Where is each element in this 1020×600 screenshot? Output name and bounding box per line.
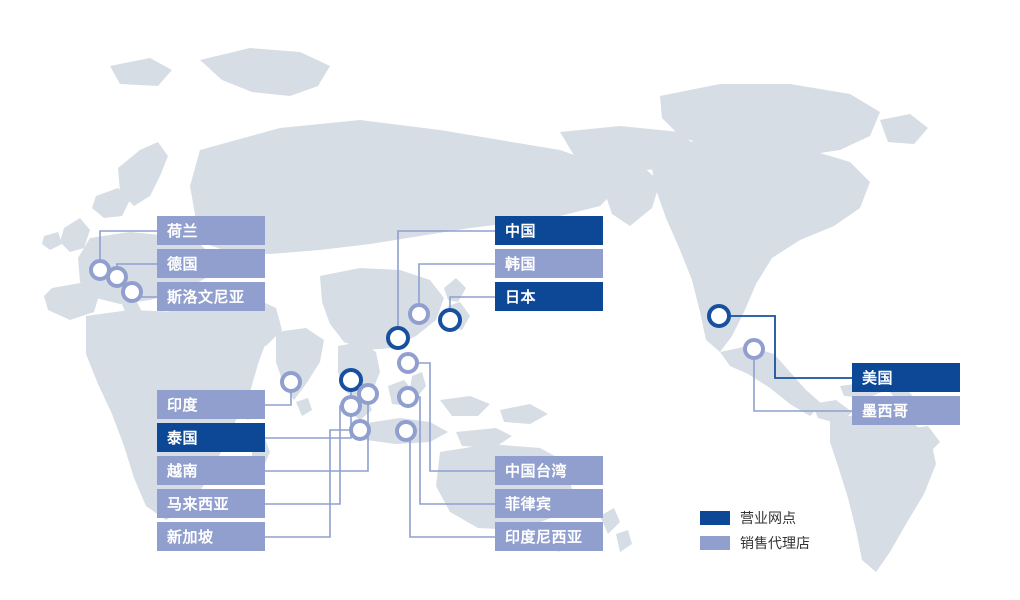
marker-hole [361,387,375,401]
marker-hole [399,424,413,438]
marker-philippines[interactable] [397,386,419,408]
marker-hole [401,390,415,404]
marker-slovenia[interactable] [121,281,143,303]
label-vietnam[interactable]: 越南 [157,456,265,485]
marker-hole [390,330,406,346]
legend-row-office: 营业网点 [700,508,810,528]
marker-singapore[interactable] [349,419,371,441]
legend: 营业网点 销售代理店 [700,508,810,558]
marker-hole [343,372,359,388]
label-taiwan[interactable]: 中国台湾 [495,456,603,485]
marker-mexico[interactable] [743,338,765,360]
label-philippines[interactable]: 菲律宾 [495,489,603,518]
marker-hole [353,423,367,437]
label-thailand[interactable]: 泰国 [157,423,265,452]
legend-swatch-agent-icon [700,536,730,550]
marker-malaysia[interactable] [340,395,362,417]
marker-hole [284,375,298,389]
label-china[interactable]: 中国 [495,216,603,245]
label-india[interactable]: 印度 [157,390,265,419]
marker-taiwan[interactable] [397,352,419,374]
marker-indonesia[interactable] [395,420,417,442]
legend-swatch-office-icon [700,511,730,525]
label-indonesia[interactable]: 印度尼西亚 [495,522,603,551]
legend-row-agent: 销售代理店 [700,533,810,553]
label-japan[interactable]: 日本 [495,282,603,311]
marker-hole [110,270,124,284]
marker-hole [412,307,426,321]
marker-hole [747,342,761,356]
label-singapore[interactable]: 新加坡 [157,522,265,551]
label-usa[interactable]: 美国 [852,363,960,392]
marker-usa[interactable] [707,304,731,328]
legend-label-office: 营业网点 [740,508,796,528]
marker-hole [125,285,139,299]
label-slovenia[interactable]: 斯洛文尼亚 [157,282,265,311]
label-korea[interactable]: 韩国 [495,249,603,278]
marker-hole [344,399,358,413]
label-germany[interactable]: 德国 [157,249,265,278]
marker-hole [401,356,415,370]
marker-india[interactable] [280,371,302,393]
legend-label-agent: 销售代理店 [740,533,810,553]
label-netherlands[interactable]: 荷兰 [157,216,265,245]
marker-japan[interactable] [438,308,462,332]
marker-hole [442,312,458,328]
marker-hole [93,263,107,277]
label-mexico[interactable]: 墨西哥 [852,396,960,425]
marker-korea[interactable] [408,303,430,325]
marker-hole [711,308,727,324]
label-malaysia[interactable]: 马来西亚 [157,489,265,518]
marker-china[interactable] [386,326,410,350]
world-presence-map: 荷兰 德国 斯洛文尼亚 中国 韩国 日本 印度 泰国 越南 马来西亚 新加坡 中… [0,0,1020,600]
